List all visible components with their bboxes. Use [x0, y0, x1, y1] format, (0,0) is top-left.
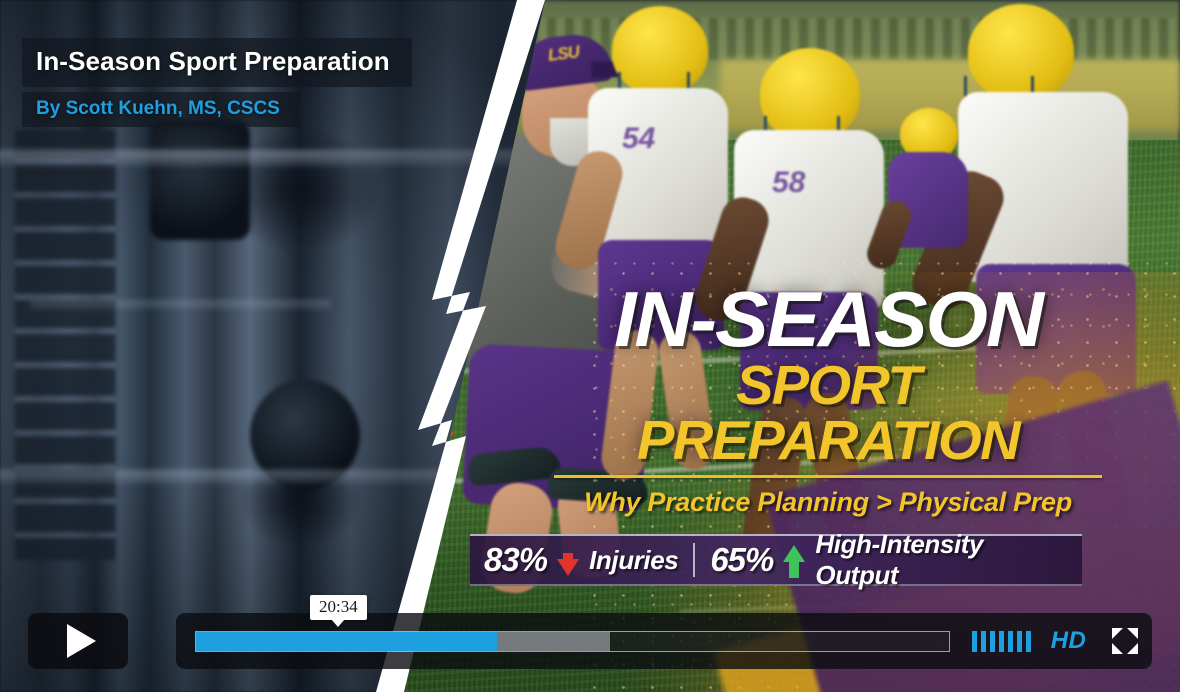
- volume-slider[interactable]: [972, 631, 1031, 652]
- team-logo-text: LSU: [547, 42, 580, 66]
- volume-bar: [1026, 631, 1031, 652]
- volume-bar: [990, 631, 995, 652]
- progress-bar[interactable]: [195, 631, 950, 652]
- stat-label-injuries: Injuries: [589, 545, 678, 576]
- volume-bar: [1017, 631, 1022, 652]
- artwork-subhead: SPORT PREPARATION: [542, 358, 1113, 468]
- volume-bar: [1008, 631, 1013, 652]
- stats-bar: 83% Injuries 65% High-Intensity Output: [470, 534, 1082, 586]
- progress-played: [196, 632, 497, 651]
- stat-value-output: 65%: [710, 541, 773, 579]
- artwork-tagline: Why Practice Planning > Physical Prep: [548, 487, 1108, 518]
- page-title: In-Season Sport Preparation: [22, 38, 412, 87]
- author-byline: By Scott Kuehn, MS, CSCS: [22, 92, 300, 127]
- stat-value-injuries: 83%: [484, 541, 547, 579]
- volume-bar: [972, 631, 977, 652]
- artwork-headline: IN-SEASON: [540, 282, 1117, 356]
- time-tooltip: 20:34: [310, 595, 367, 620]
- stat-divider: [693, 543, 695, 577]
- artwork-rule: [554, 475, 1102, 478]
- control-bar[interactable]: HD: [176, 613, 1152, 669]
- stat-label-output: High-Intensity Output: [815, 529, 1068, 591]
- fullscreen-icon[interactable]: [1112, 628, 1138, 654]
- quality-hd-button[interactable]: HD: [1051, 627, 1087, 655]
- video-player[interactable]: LSU 54 58: [0, 0, 1180, 692]
- artwork-title-block: IN-SEASON SPORT PREPARATION Why Practice…: [548, 282, 1108, 518]
- play-icon: [67, 624, 96, 658]
- volume-bar: [999, 631, 1004, 652]
- arrow-up-icon: [783, 545, 805, 562]
- arrow-down-icon: [557, 559, 579, 576]
- volume-bar: [981, 631, 986, 652]
- play-button[interactable]: [28, 613, 128, 669]
